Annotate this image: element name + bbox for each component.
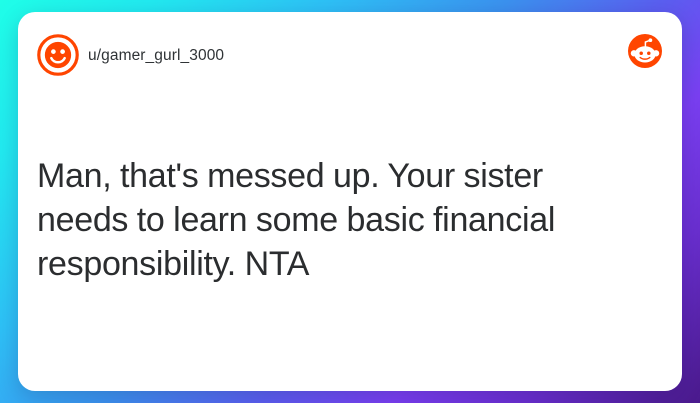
screenshot-stage: u/gamer_gurl_3000 [0,0,700,403]
reddit-comment-card: u/gamer_gurl_3000 [18,12,682,391]
reddit-snoo-icon[interactable] [628,34,662,68]
comment-text: Man, that's messed up. Your sister needs… [37,154,642,286]
comment-body: Man, that's messed up. Your sister needs… [37,154,642,286]
username-label: u/gamer_gurl_3000 [88,46,224,66]
smiley-face-avatar-icon[interactable] [37,34,79,76]
comment-header: u/gamer_gurl_3000 [18,12,682,98]
